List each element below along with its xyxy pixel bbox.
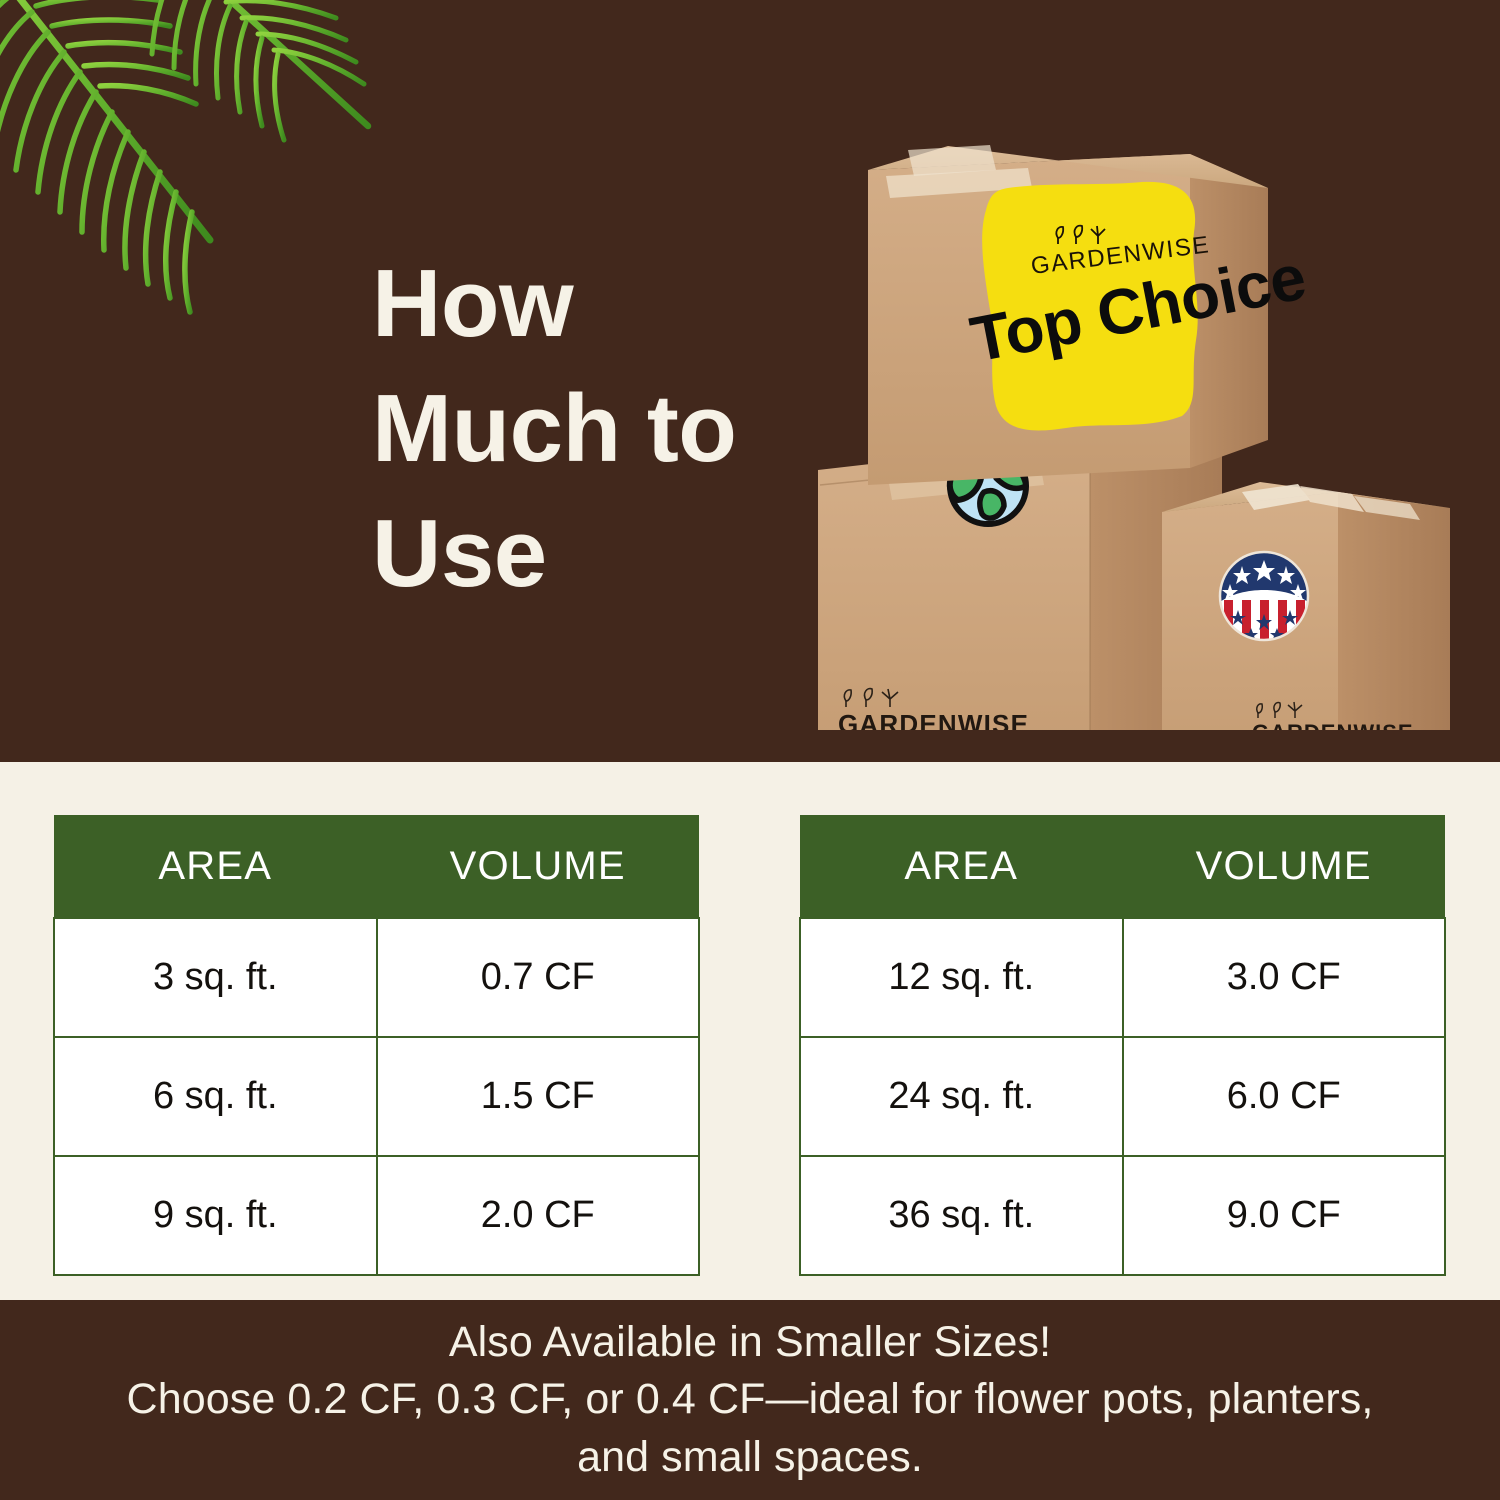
small-sizes-table: AREA VOLUME 3 sq. ft. 0.7 CF 6 sq. ft. 1…	[53, 815, 700, 1276]
cell-area: 6 sq. ft.	[54, 1037, 377, 1156]
column-header-area: AREA	[800, 815, 1123, 918]
box-top: GARDENWISE Top Choice	[868, 145, 1311, 485]
footer-line-3: and small spaces.	[50, 1429, 1450, 1486]
table-row: 36 sq. ft. 9.0 CF	[800, 1156, 1445, 1275]
table-row: 24 sq. ft. 6.0 CF	[800, 1037, 1445, 1156]
table-row: 12 sq. ft. 3.0 CF	[800, 918, 1445, 1037]
cell-area: 9 sq. ft.	[54, 1156, 377, 1275]
box-small: GARDENWISE GROW WITH CONFIDENCE	[1162, 482, 1450, 730]
table-row: 3 sq. ft. 0.7 CF	[54, 918, 699, 1037]
cell-volume: 2.0 CF	[377, 1156, 700, 1275]
cell-volume: 0.7 CF	[377, 918, 700, 1037]
title-line-3: Use	[372, 492, 792, 617]
svg-text:GARDENWISE: GARDENWISE	[1252, 720, 1414, 730]
palm-frond-icon	[0, 0, 430, 370]
column-header-volume: VOLUME	[377, 815, 700, 918]
cell-volume: 3.0 CF	[1123, 918, 1446, 1037]
table-row: 6 sq. ft. 1.5 CF	[54, 1037, 699, 1156]
title-line-1: How	[372, 242, 792, 367]
svg-text:GARDENWISE: GARDENWISE	[838, 709, 1029, 730]
table-row: 9 sq. ft. 2.0 CF	[54, 1156, 699, 1275]
cell-area: 36 sq. ft.	[800, 1156, 1123, 1275]
cell-area: 3 sq. ft.	[54, 918, 377, 1037]
title-line-2: Much to	[372, 367, 792, 492]
cell-volume: 6.0 CF	[1123, 1037, 1446, 1156]
column-header-area: AREA	[54, 815, 377, 918]
footer-section: Also Available in Smaller Sizes! Choose …	[0, 1300, 1500, 1500]
large-sizes-table: AREA VOLUME 12 sq. ft. 3.0 CF 24 sq. ft.…	[799, 815, 1446, 1276]
tables-section: AREA VOLUME 3 sq. ft. 0.7 CF 6 sq. ft. 1…	[0, 762, 1500, 1300]
product-box-stack-image: GARDENWISE GROW WITH CONFIDENCE	[790, 140, 1480, 730]
table-header-row: AREA VOLUME	[800, 815, 1445, 918]
cell-area: 12 sq. ft.	[800, 918, 1123, 1037]
table-header-row: AREA VOLUME	[54, 815, 699, 918]
column-header-volume: VOLUME	[1123, 815, 1446, 918]
infographic-page: How Much to Use	[0, 0, 1500, 1500]
box-large-body: GARDENWISE GROW WITH CONFIDENCE	[820, 445, 1222, 730]
footer-line-1: Also Available in Smaller Sizes!	[50, 1314, 1450, 1371]
page-title: How Much to Use	[372, 242, 792, 616]
footer-line-2: Choose 0.2 CF, 0.3 CF, or 0.4 CF—ideal f…	[50, 1371, 1450, 1428]
cell-volume: 1.5 CF	[377, 1037, 700, 1156]
cell-area: 24 sq. ft.	[800, 1037, 1123, 1156]
usa-flag-badge-icon	[1220, 552, 1308, 641]
hero-section: How Much to Use	[0, 0, 1500, 762]
cell-volume: 9.0 CF	[1123, 1156, 1446, 1275]
